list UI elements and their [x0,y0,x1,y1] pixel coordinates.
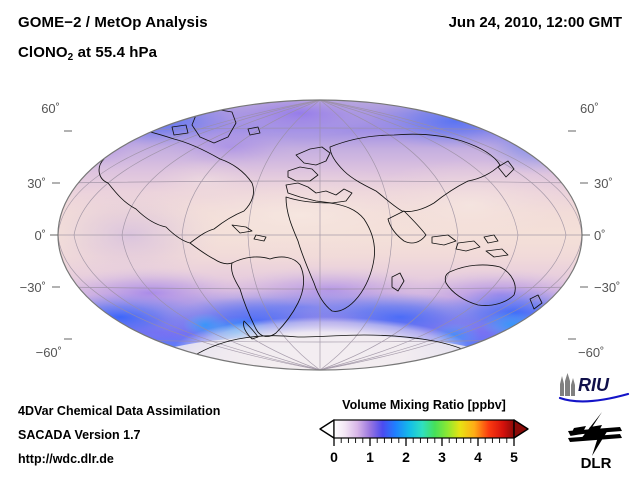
footer-method-label: 4DVar Chemical Data Assimilation [18,404,220,418]
figure-canvas: GOME−2 / MetOp Analysis ClONO2 at 55.4 h… [0,0,640,480]
lat-label-right-0: 0˚ [594,228,606,243]
lat-label-left-30s: −30˚ [20,280,46,295]
timestamp-label: Jun 24, 2010, 12:00 GMT [449,14,622,31]
riu-tower-icon [560,373,575,396]
dlr-wordmark: DLR [581,455,612,472]
lat-label-right-30n: 30˚ [594,176,613,191]
dlr-logo: DLR [562,410,630,472]
pressure-level-label: at 55.4 hPa [73,44,157,61]
n-atlantic-pale [150,160,260,200]
colorbar-svg: 0 1 2 3 4 5 [316,418,532,476]
page-title: GOME−2 / MetOp Analysis [18,14,208,31]
species-subtitle: ClONO2 at 55.4 hPa [18,44,157,61]
coastline-arctic-islands-1 [150,109,178,123]
species-name: ClONO [18,44,68,61]
map-svg: 60˚ 30˚ 0˚ −30˚ −60˚ 60˚ 30˚ 0˚ −30˚ −60… [0,85,640,385]
colorbar-minor-ticks [341,438,507,443]
colorbar-gradient [334,420,514,438]
colorbar-tick-label-4: 4 [474,449,482,465]
coastline-arctic-islands-2 [122,114,148,127]
dlr-logo-svg: DLR [562,410,630,472]
riu-wordmark: RIU [578,375,610,395]
lat-label-right-30s: −30˚ [594,280,620,295]
colorbar-tick-label-2: 2 [402,449,410,465]
colorbar-title: Volume Mixing Ratio [ppbv] [316,398,532,412]
lat-label-left-60n: 60˚ [41,101,60,116]
antarctic-vortex-core [147,335,497,385]
world-map: 60˚ 30˚ 0˚ −30˚ −60˚ 60˚ 30˚ 0˚ −30˚ −60… [0,85,640,385]
nh-blue-patch-2 [370,93,540,149]
riu-logo: RIU [556,372,632,404]
lat-label-right-60n: 60˚ [580,101,599,116]
dlr-mark-icon [568,412,622,456]
lat-label-left-60s: −60˚ [36,345,62,360]
nh-violet-patch-2 [45,117,145,173]
riu-swoosh-icon [560,394,628,401]
species-subscript: 2 [68,52,74,63]
lat-label-left-30n: 30˚ [27,176,46,191]
lat-label-right-60s: −60˚ [578,345,604,360]
colorbar-tick-label-1: 1 [366,449,374,465]
data-field [35,89,600,385]
colorbar-major-ticks [334,438,514,446]
colorbar-tick-label-3: 3 [438,449,446,465]
colorbar: Volume Mixing Ratio [ppbv] [316,398,532,476]
colorbar-tick-label-0: 0 [330,449,338,465]
lat-label-left-0: 0˚ [34,228,46,243]
colorbar-tick-label-5: 5 [510,449,518,465]
footer-version-label: SACADA Version 1.7 [18,428,141,442]
colorbar-right-cap [514,420,528,438]
footer-url-link[interactable]: http://wdc.dlr.de [18,452,114,466]
colorbar-left-cap [320,420,334,438]
riu-logo-svg: RIU [556,372,632,404]
